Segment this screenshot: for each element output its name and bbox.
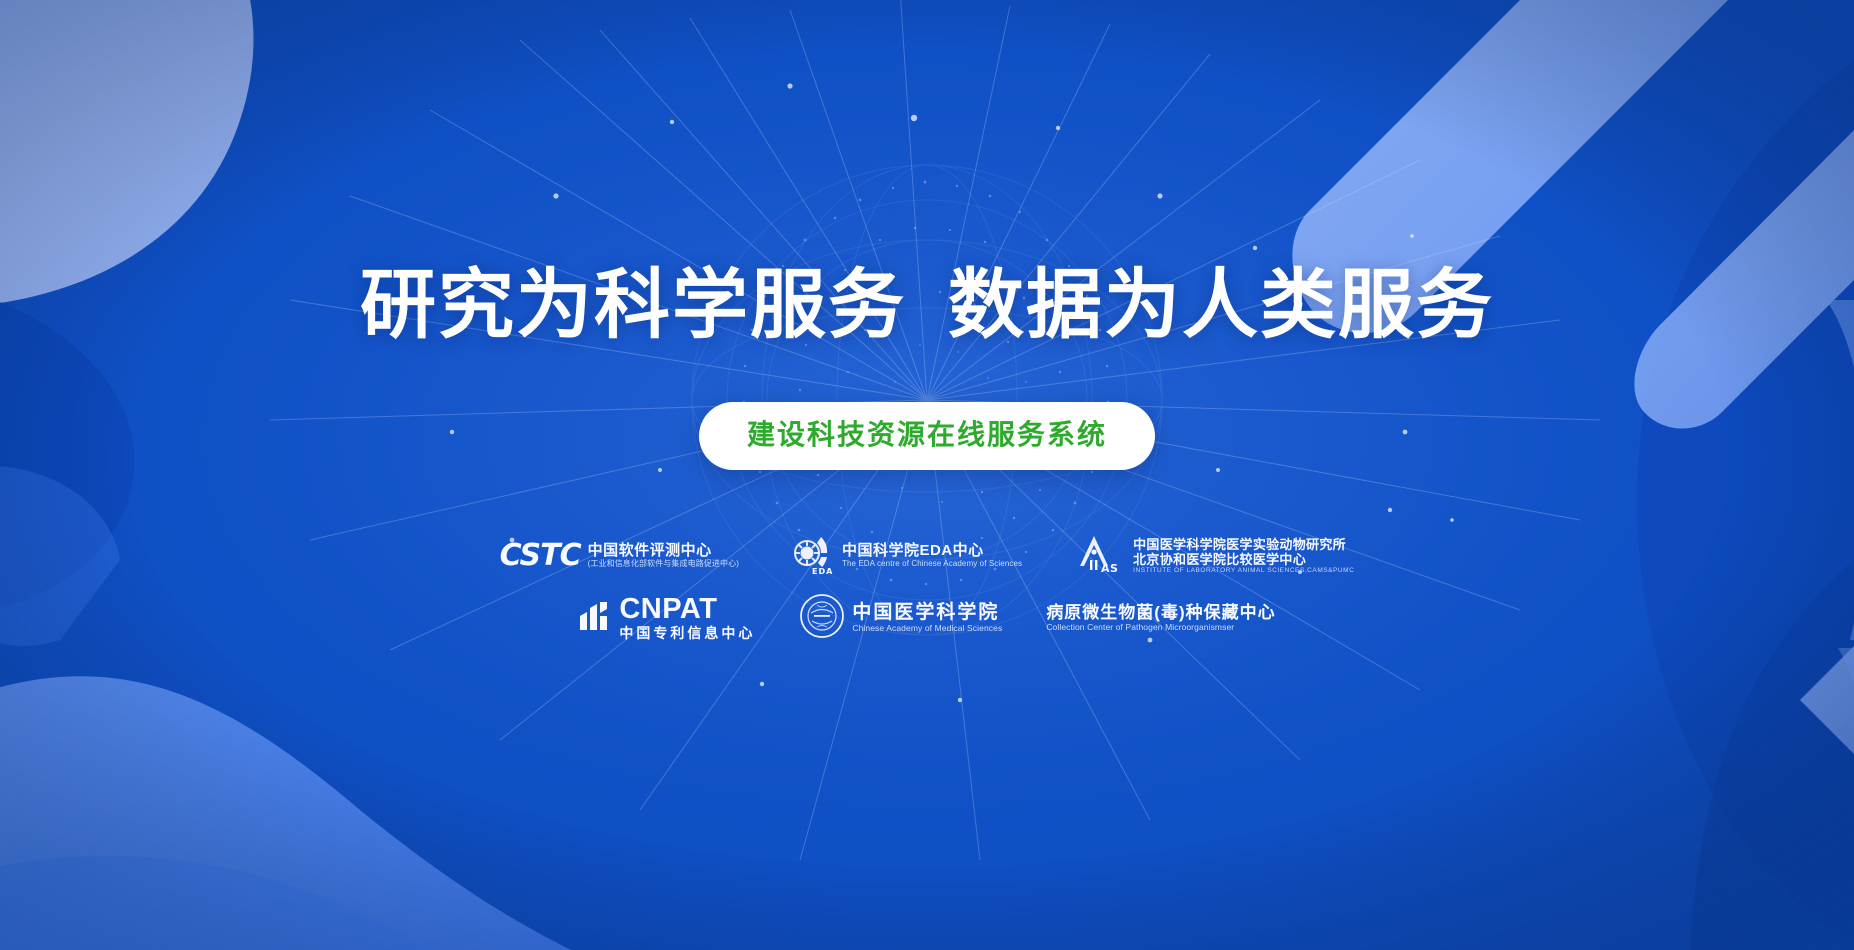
partner-logos: CSTC 中国软件评测中心 (工业和信息化部软件与集成电路促进中心) xyxy=(500,532,1355,644)
pathogen-name-cn: 病原微生物菌(毒)种保藏中心 xyxy=(1046,603,1275,622)
partner-logo-pathogen-collection[interactable]: 病原微生物菌(毒)种保藏中心 Collection Center of Path… xyxy=(1046,603,1275,633)
hero-headline: 研究为科学服务 数据为人类服务 xyxy=(360,268,1494,344)
svg-text:AS: AS xyxy=(1101,562,1118,575)
cta-pill-button[interactable]: 建设科技资源在线服务系统 xyxy=(699,402,1155,470)
svg-text:EDA CAS: EDA CAS xyxy=(812,567,835,575)
cams-text-block: 中国医学科学院 Chinese Academy of Medical Scien… xyxy=(852,602,1002,634)
partner-logo-cams[interactable]: 中国医学科学院 Chinese Academy of Medical Scien… xyxy=(799,593,1002,644)
cstc-name-sub: (工业和信息化部软件与集成电路促进中心) xyxy=(588,559,739,569)
headline-part-left: 研究为科学服务 xyxy=(360,268,906,344)
eda-cas-name-cn: 中国科学院EDA中心 xyxy=(842,543,1022,560)
cnpat-wordmark: CNPAT xyxy=(619,595,755,624)
pathogen-text-block: 病原微生物菌(毒)种保藏中心 Collection Center of Path… xyxy=(1046,603,1275,633)
partner-logo-row-1: CSTC 中国软件评测中心 (工业和信息化部软件与集成电路促进中心) xyxy=(500,532,1355,581)
cams-name-cn: 中国医学科学院 xyxy=(852,602,1002,623)
eda-cas-logo-icon: EDA CAS xyxy=(791,533,835,580)
ilas-text-block: 中国医学科学院医学实验动物研究所 北京协和医学院比较医学中心 INSTITUTE… xyxy=(1133,537,1354,576)
partner-logo-eda-cas[interactable]: EDA CAS 中国科学院EDA中心 The EDA centre of Chi… xyxy=(791,533,1022,580)
partner-logo-cstc[interactable]: CSTC 中国软件评测中心 (工业和信息化部软件与集成电路促进中心) xyxy=(500,541,739,571)
ilas-name-cn-1: 中国医学科学院医学实验动物研究所 xyxy=(1133,537,1354,552)
partner-logo-cnpat[interactable]: CNPAT 中国专利信息中心 xyxy=(578,595,755,642)
cams-name-sub: Chinese Academy of Medical Sciences xyxy=(852,623,1002,634)
partner-logo-row-2: CNPAT 中国专利信息中心 xyxy=(578,593,1275,644)
partner-logo-ilas[interactable]: AS 中国医学科学院医学实验动物研究所 北京协和医学院比较医学中心 INSTIT… xyxy=(1074,532,1354,581)
cnpat-bars-icon xyxy=(578,600,612,637)
cstc-wordmark-icon: CSTC xyxy=(500,541,581,571)
ilas-name-cn-2: 北京协和医学院比较医学中心 xyxy=(1133,552,1354,567)
eda-cas-name-sub: The EDA centre of Chinese Academy of Sci… xyxy=(842,559,1022,569)
cstc-text-block: 中国软件评测中心 (工业和信息化部软件与集成电路促进中心) xyxy=(588,543,739,570)
headline-part-right: 数据为人类服务 xyxy=(948,268,1494,344)
hero-banner: 研究为科学服务 数据为人类服务 建设科技资源在线服务系统 CSTC 中国软件评测… xyxy=(0,0,1854,950)
cnpat-name-cn: 中国专利信息中心 xyxy=(619,626,755,642)
cams-seal-icon xyxy=(799,593,845,644)
ilas-logo-icon: AS xyxy=(1074,532,1126,581)
cnpat-text-block: CNPAT 中国专利信息中心 xyxy=(619,595,755,642)
cstc-name-cn: 中国软件评测中心 xyxy=(588,543,739,560)
ilas-name-sub: INSTITUTE OF LABORATORY ANIMAL SCIENCES,… xyxy=(1133,567,1354,575)
eda-cas-text-block: 中国科学院EDA中心 The EDA centre of Chinese Aca… xyxy=(842,543,1022,570)
cta-pill-label: 建设科技资源在线服务系统 xyxy=(747,418,1107,452)
pathogen-name-sub: Collection Center of Pathogen Microorgan… xyxy=(1046,622,1275,633)
